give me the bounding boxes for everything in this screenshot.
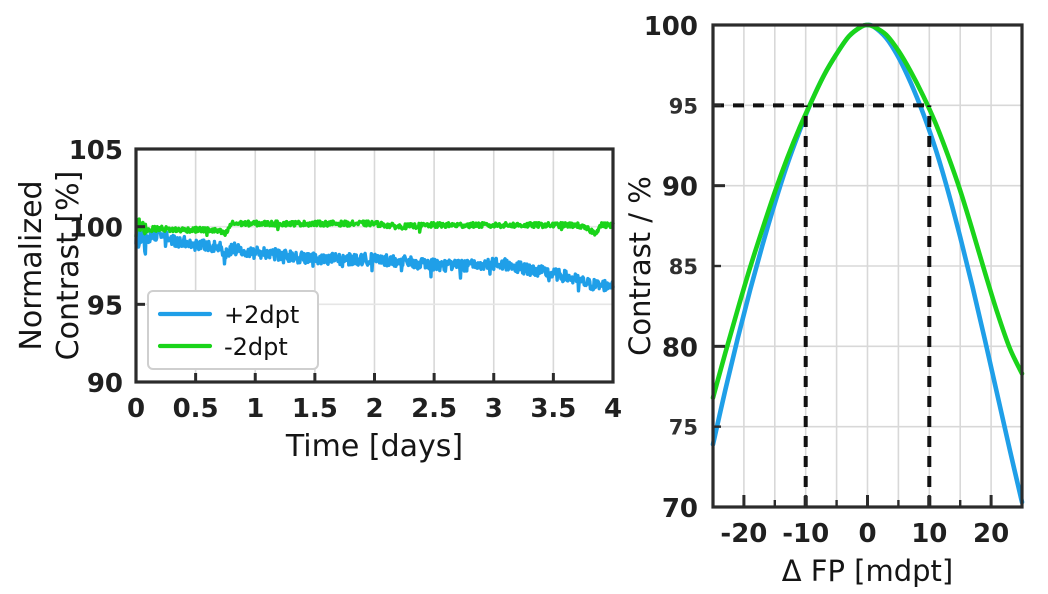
left-xtick-label-8: 4	[604, 394, 622, 424]
right-ytick-label-2: 90	[662, 173, 698, 203]
figure-two-panel: 909510010500.511.522.533.54Time [days]No…	[0, 0, 1048, 594]
left-xtick-label-0: 0	[127, 394, 145, 424]
right-xtick-label-1: -10	[782, 519, 829, 549]
right-ytick-minor-label-0: 75	[669, 416, 698, 440]
left-xtick-label-4: 2	[365, 394, 383, 424]
right-ytick-minor-label-2: 95	[669, 94, 698, 118]
left-ytick-label-1: 95	[87, 291, 123, 321]
right-xtick-label-0: -20	[720, 519, 767, 549]
right-xtick-label-2: 0	[858, 519, 876, 549]
right-xtick-label-3: 10	[911, 519, 947, 549]
legend-label-1: -2dpt	[224, 333, 288, 361]
legend-label-0: +2dpt	[224, 301, 299, 329]
right-yaxis-label: Contrast / %	[623, 176, 657, 356]
left-xtick-label-6: 3	[485, 394, 503, 424]
left-yaxis-label-line1: Normalized	[14, 180, 49, 350]
left-ytick-label-0: 90	[87, 369, 123, 399]
left-yaxis-label-line2: Contrast [%]	[51, 171, 86, 361]
left-xtick-label-3: 1.5	[292, 394, 338, 424]
left-xtick-label-1: 0.5	[173, 394, 219, 424]
right-xaxis-label: Δ FP [mdpt]	[782, 554, 954, 588]
left-xaxis-label: Time [days]	[285, 429, 463, 464]
figure-canvas: 909510010500.511.522.533.54Time [days]No…	[0, 0, 1048, 594]
right-ytick-label-0: 70	[662, 494, 698, 524]
left-ytick-label-3: 105	[69, 136, 123, 166]
right-ytick-minor-label-1: 85	[669, 255, 698, 279]
right-ytick-label-3: 100	[644, 12, 698, 42]
left-xtick-label-5: 2.5	[411, 394, 457, 424]
left-xtick-label-7: 3.5	[530, 394, 576, 424]
right-xtick-label-4: 20	[973, 519, 1009, 549]
right-ytick-label-1: 80	[662, 333, 698, 363]
left-xtick-label-2: 1	[246, 394, 264, 424]
